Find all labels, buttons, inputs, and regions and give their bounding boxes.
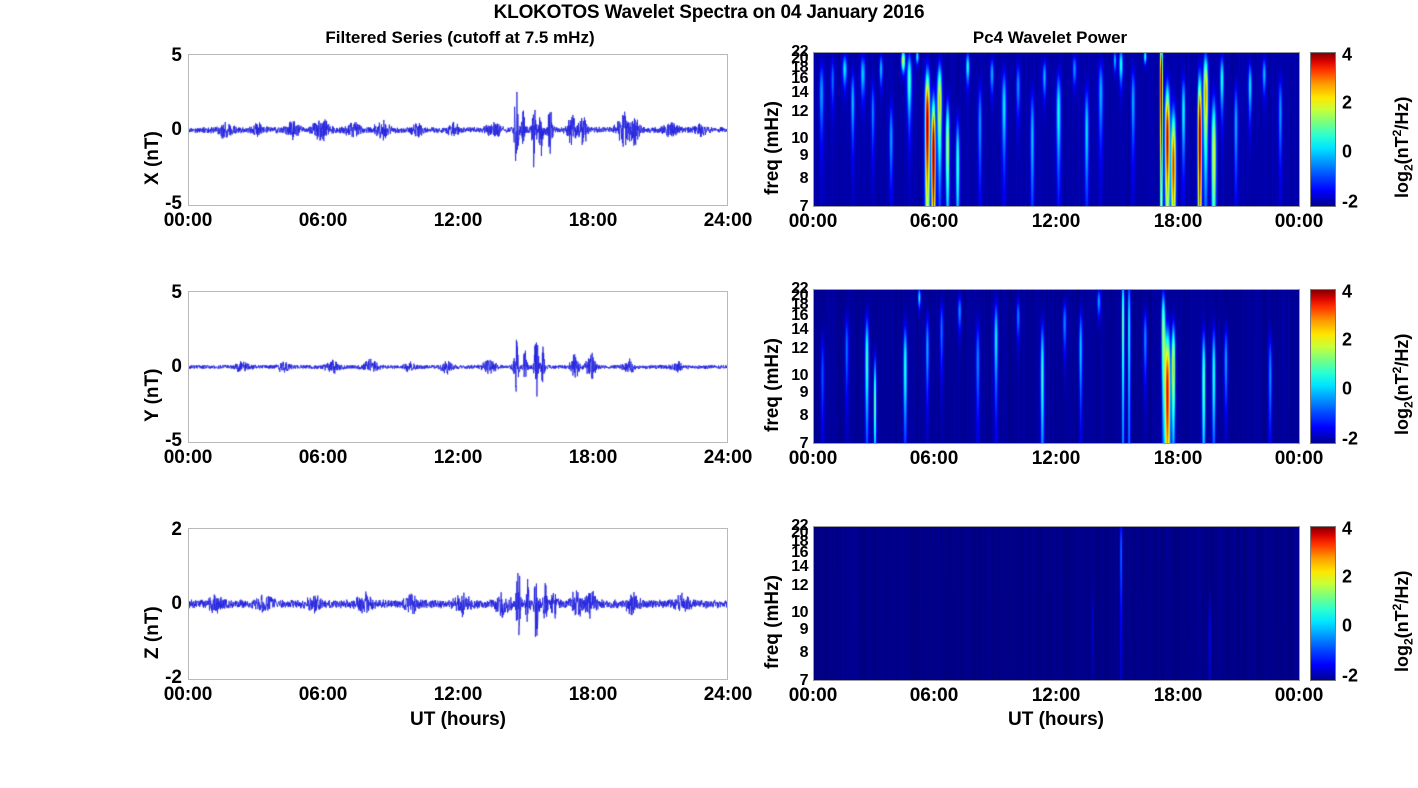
freq-tick-10: 10: [770, 604, 808, 622]
ytick-z-0: 2: [150, 519, 182, 541]
ytick-z-1: 0: [150, 593, 182, 615]
xtick-hz-4: 00:00: [1275, 685, 1324, 707]
axes-wavelet-z: [813, 526, 1300, 681]
ytick-y-0: 5: [150, 282, 182, 304]
xtick-z-3: 18:00: [569, 684, 618, 706]
cbar-tick-y-0: 4: [1342, 282, 1352, 303]
freq-tick-12: 12: [770, 577, 808, 595]
cbar-tick-x-1: 2: [1342, 93, 1352, 114]
axes-series-y: [188, 291, 728, 443]
xtick-hy-2: 12:00: [1032, 448, 1081, 470]
xtick-hz-3: 18:00: [1154, 685, 1203, 707]
xtick-z-2: 12:00: [434, 684, 483, 706]
xtick-hz-1: 06:00: [910, 685, 959, 707]
freq-tick-14: 14: [770, 84, 808, 102]
xtick-x-4: 24:00: [704, 210, 753, 232]
xtick-hy-1: 06:00: [910, 448, 959, 470]
xtick-z-0: 00:00: [164, 684, 213, 706]
cbar-tick-y-1: 2: [1342, 330, 1352, 351]
axes-series-z: [188, 528, 728, 680]
xtick-x-2: 12:00: [434, 210, 483, 232]
xtick-y-4: 24:00: [704, 447, 753, 469]
cbar-tick-y-3: -2: [1342, 429, 1358, 450]
freq-tick-12: 12: [770, 340, 808, 358]
xtick-z-1: 06:00: [299, 684, 348, 706]
ytick-y-1: 0: [150, 356, 182, 378]
freq-tick-9: 9: [770, 147, 808, 165]
freq-tick-14: 14: [770, 558, 808, 576]
colorbar-label-y: log2(nT2/Hz): [1390, 334, 1416, 435]
xtick-hy-0: 00:00: [789, 448, 838, 470]
xtick-hz-0: 00:00: [789, 685, 838, 707]
xlabel-left: UT (hours): [338, 709, 578, 731]
cbar-tick-z-0: 4: [1342, 519, 1352, 540]
colorbar-x: [1310, 52, 1336, 207]
cbar-tick-x-3: -2: [1342, 192, 1358, 213]
xtick-hx-4: 00:00: [1275, 211, 1324, 233]
axes-wavelet-y: [813, 289, 1300, 444]
cbar-tick-z-3: -2: [1342, 666, 1358, 687]
figure-main-title: KLOKOTOS Wavelet Spectra on 04 January 2…: [0, 2, 1418, 24]
cbar-tick-y-2: 0: [1342, 379, 1352, 400]
freq-tick-9: 9: [770, 384, 808, 402]
ytick-x-0: 5: [150, 45, 182, 67]
cbar-tick-z-2: 0: [1342, 616, 1352, 637]
freq-tick-9: 9: [770, 621, 808, 639]
freq-tick-10: 10: [770, 130, 808, 148]
xtick-hz-2: 12:00: [1032, 685, 1081, 707]
axes-wavelet-x: [813, 52, 1300, 207]
axes-series-x: [188, 54, 728, 206]
xtick-x-0: 00:00: [164, 210, 213, 232]
freq-tick-8: 8: [770, 644, 808, 662]
xtick-x-1: 06:00: [299, 210, 348, 232]
freq-tick-12: 12: [770, 103, 808, 121]
cbar-tick-x-0: 4: [1342, 45, 1352, 66]
xtick-hx-0: 00:00: [789, 211, 838, 233]
xlabel-right: UT (hours): [936, 709, 1176, 731]
cbar-tick-x-2: 0: [1342, 142, 1352, 163]
cbar-tick-z-1: 2: [1342, 567, 1352, 588]
xtick-hx-1: 06:00: [910, 211, 959, 233]
xtick-y-1: 06:00: [299, 447, 348, 469]
xtick-hx-2: 12:00: [1032, 211, 1081, 233]
xtick-y-2: 12:00: [434, 447, 483, 469]
freq-tick-10: 10: [770, 367, 808, 385]
right-column-title: Pc4 Wavelet Power: [790, 28, 1310, 48]
xtick-hy-4: 00:00: [1275, 448, 1324, 470]
colorbar-label-z: log2(nT2/Hz): [1390, 571, 1416, 672]
colorbar-y: [1310, 289, 1336, 444]
xtick-z-4: 24:00: [704, 684, 753, 706]
ytick-x-1: 0: [150, 119, 182, 141]
xtick-x-3: 18:00: [569, 210, 618, 232]
colorbar-z: [1310, 526, 1336, 681]
freq-tick-8: 8: [770, 170, 808, 188]
xtick-hy-3: 18:00: [1154, 448, 1203, 470]
xtick-hx-3: 18:00: [1154, 211, 1203, 233]
colorbar-label-x: log2(nT2/Hz): [1390, 97, 1416, 198]
freq-tick-14: 14: [770, 321, 808, 339]
freq-tick-8: 8: [770, 407, 808, 425]
xtick-y-3: 18:00: [569, 447, 618, 469]
xtick-y-0: 00:00: [164, 447, 213, 469]
left-column-title: Filtered Series (cutoff at 7.5 mHz): [160, 28, 760, 48]
